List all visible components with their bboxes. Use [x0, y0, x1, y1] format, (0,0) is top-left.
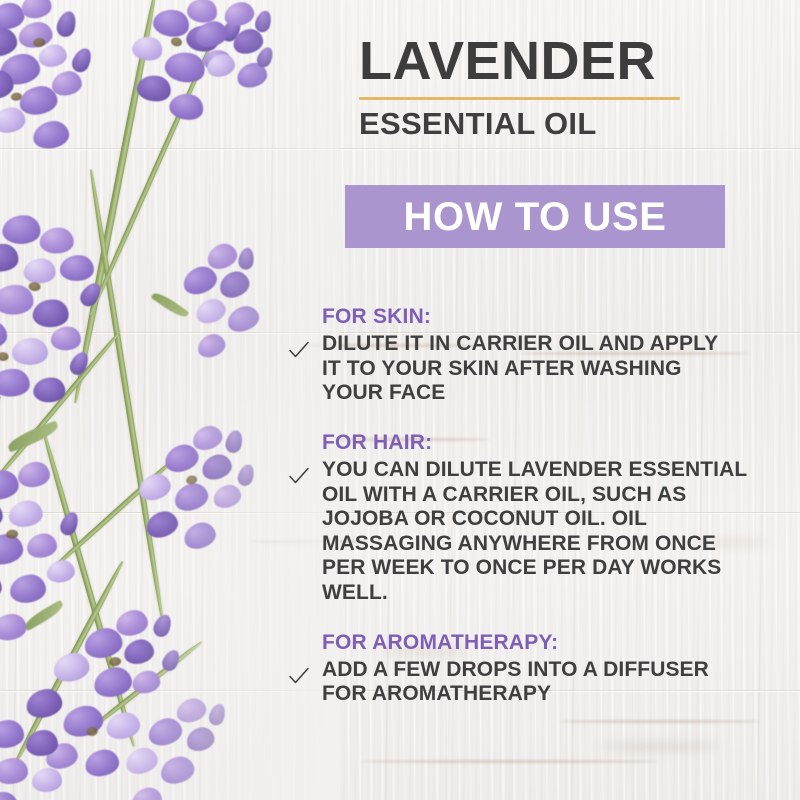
instruction-section-hair: FOR HAIR: YOU CAN DILUTE LAVENDER ESSENT… [285, 430, 785, 606]
instructions-list: FOR SKIN: DILUTE IT IN CARRIER OIL AND A… [285, 304, 785, 727]
title-block: LAVENDER ESSENTIAL OIL [359, 34, 759, 142]
poster-content: LAVENDER ESSENTIAL OIL HOW TO USE FOR SK… [0, 0, 800, 800]
instruction-item: YOU CAN DILUTE LAVENDER ESSENTIAL OIL WI… [285, 458, 785, 605]
instruction-item: DILUTE IT IN CARRIER OIL AND APPLY IT TO… [285, 332, 785, 406]
poster-canvas: LAVENDER ESSENTIAL OIL HOW TO USE FOR SK… [0, 0, 800, 800]
section-heading: FOR HAIR: [322, 430, 785, 456]
how-to-use-banner-label: HOW TO USE [403, 197, 666, 237]
section-body: DILUTE IT IN CARRIER OIL AND APPLY IT TO… [322, 332, 785, 406]
check-icon [287, 664, 311, 688]
section-heading: FOR AROMATHERAPY: [322, 630, 785, 656]
instruction-item: ADD A FEW DROPS INTO A DIFFUSER FOR AROM… [285, 658, 785, 707]
how-to-use-banner: HOW TO USE [345, 185, 725, 248]
section-heading: FOR SKIN: [322, 304, 785, 330]
instruction-section-skin: FOR SKIN: DILUTE IT IN CARRIER OIL AND A… [285, 304, 785, 406]
page-title: LAVENDER [359, 34, 759, 89]
section-body: YOU CAN DILUTE LAVENDER ESSENTIAL OIL WI… [322, 458, 785, 605]
instruction-section-aromatherapy: FOR AROMATHERAPY: ADD A FEW DROPS INTO A… [285, 630, 785, 707]
section-body: ADD A FEW DROPS INTO A DIFFUSER FOR AROM… [322, 658, 785, 707]
title-divider [359, 97, 680, 100]
check-icon [287, 338, 311, 362]
page-subtitle: ESSENTIAL OIL [359, 106, 759, 142]
check-icon [287, 464, 311, 488]
